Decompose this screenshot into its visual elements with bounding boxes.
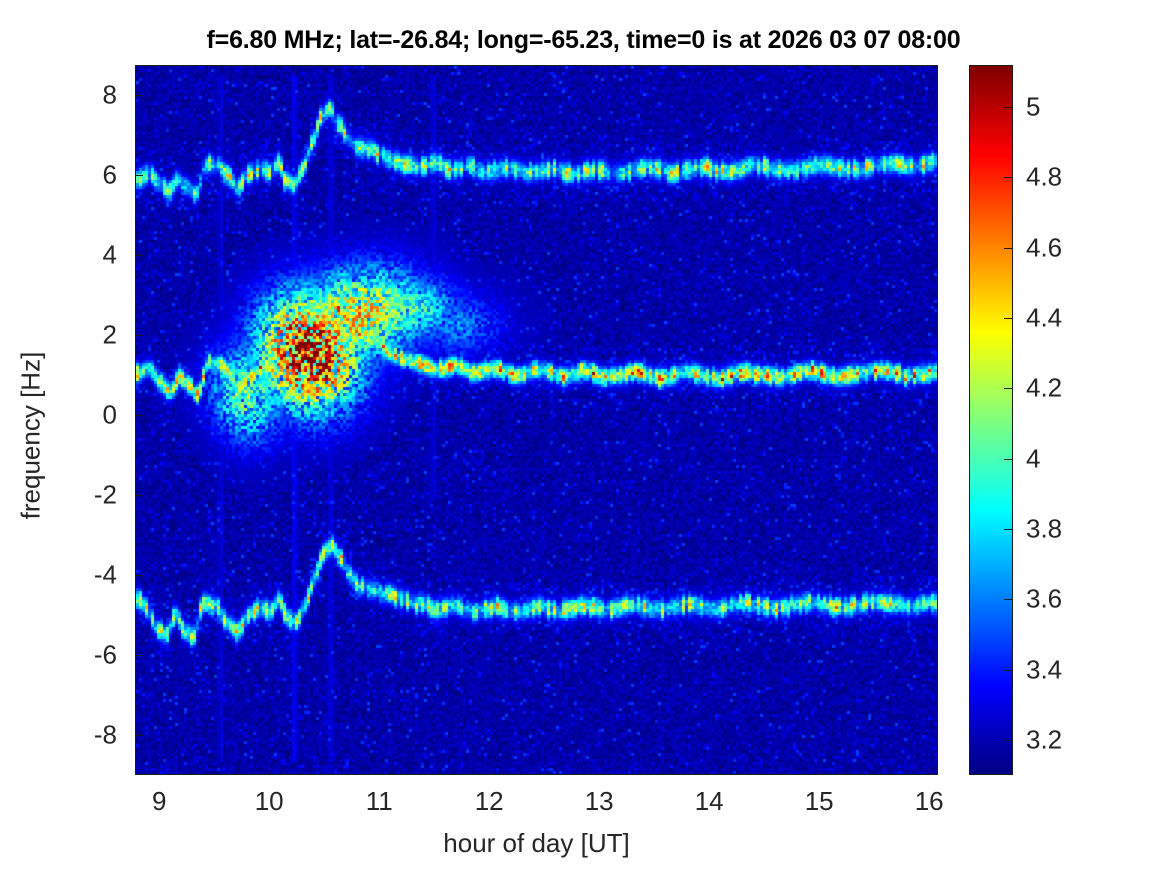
- colorbar-tick-mark: [1004, 529, 1013, 530]
- colorbar-ticks: 3.23.43.63.844.24.44.64.85: [0, 0, 1167, 875]
- colorbar-tick-mark: [1004, 599, 1013, 600]
- colorbar-tick-label: 4: [1026, 443, 1040, 474]
- colorbar-tick-label: 4.6: [1026, 232, 1062, 263]
- colorbar-tick-mark: [1004, 107, 1013, 108]
- colorbar-tick-label: 3.6: [1026, 584, 1062, 615]
- colorbar-tick-mark: [1004, 318, 1013, 319]
- colorbar-tick-mark: [1004, 177, 1013, 178]
- colorbar-tick-label: 4.2: [1026, 373, 1062, 404]
- colorbar-tick-label: 4.4: [1026, 303, 1062, 334]
- colorbar-tick-mark: [1004, 248, 1013, 249]
- colorbar-tick-mark: [1004, 670, 1013, 671]
- colorbar-tick-mark: [1004, 388, 1013, 389]
- colorbar-tick-label: 5: [1026, 92, 1040, 123]
- colorbar-tick-label: 3.2: [1026, 724, 1062, 755]
- colorbar-tick-label: 4.8: [1026, 162, 1062, 193]
- figure-canvas: f=6.80 MHz; lat=-26.84; long=-65.23, tim…: [0, 0, 1167, 875]
- colorbar-tick-label: 3.4: [1026, 654, 1062, 685]
- colorbar-tick-mark: [1004, 740, 1013, 741]
- colorbar-tick-label: 3.8: [1026, 513, 1062, 544]
- colorbar-tick-mark: [1004, 459, 1013, 460]
